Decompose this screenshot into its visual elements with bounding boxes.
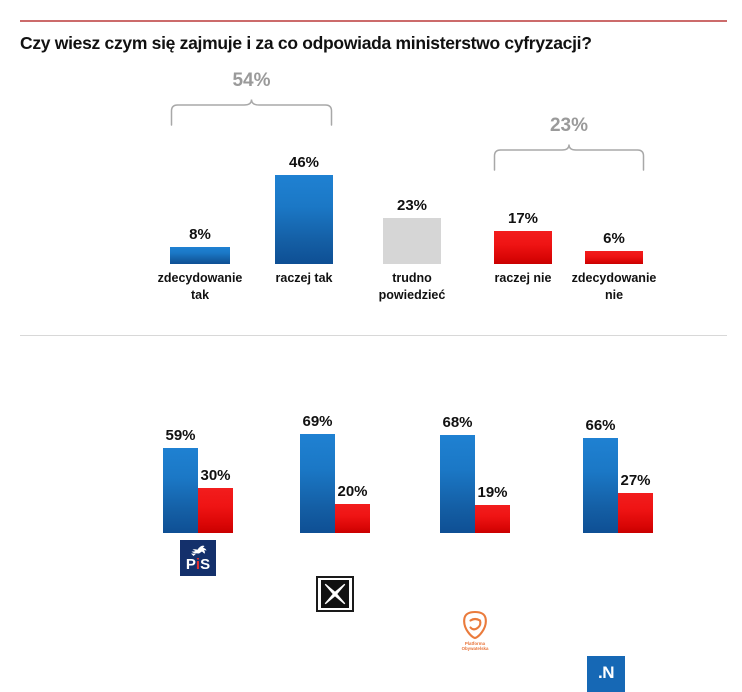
top-rule-divider bbox=[20, 20, 727, 22]
bar-zdecydowanie-tak bbox=[170, 247, 230, 264]
bar-value-raczej-tak: 46% bbox=[268, 154, 340, 171]
pis-logo-p: P bbox=[186, 556, 196, 573]
bar-group-raczej-nie: 17% bbox=[487, 60, 559, 264]
bar-label-zdecydowanie-tak: zdecydowanie tak bbox=[143, 270, 257, 303]
bar-group-zdecydowanie-nie: 6% bbox=[578, 60, 650, 264]
bar-value-raczej-nie: 17% bbox=[487, 210, 559, 227]
party-group-pis: 59% 30% bbox=[163, 400, 233, 533]
pis-logo-s: S bbox=[200, 556, 210, 573]
bar-value-kukiz-yes: 69% bbox=[296, 413, 339, 430]
bar-nowoczesna-yes bbox=[583, 438, 618, 533]
bar-kukiz-no bbox=[335, 504, 370, 533]
bar-po-yes bbox=[440, 435, 475, 533]
bar-label-line1: raczej tak bbox=[248, 270, 360, 287]
po-caption-line2: Obywatelska bbox=[452, 646, 498, 651]
nowoczesna-logo-text: .N bbox=[587, 663, 625, 683]
po-shield-icon bbox=[452, 610, 498, 640]
page-title: Czy wiesz czym się zajmuje i za co odpow… bbox=[20, 33, 727, 54]
overall-results-chart: 54% 23% 8% zdecydowanie tak 46% racz bbox=[0, 60, 742, 330]
bar-value-nowoczesna-no: 27% bbox=[614, 472, 657, 489]
kukiz-x-icon bbox=[321, 580, 349, 608]
bar-group-trudno-powiedziec: 23% bbox=[376, 60, 448, 264]
bar-label-line2: nie bbox=[558, 287, 670, 304]
infographic-root: Czy wiesz czym się zajmuje i za co odpow… bbox=[0, 0, 742, 640]
po-logo-caption: Platforma Obywatelska bbox=[452, 641, 498, 651]
bar-kukiz-yes bbox=[300, 434, 335, 533]
pis-logo: PiS bbox=[180, 540, 216, 576]
bar-raczej-tak bbox=[275, 175, 333, 264]
bar-label-zdecydowanie-nie: zdecydowanie nie bbox=[558, 270, 670, 303]
bar-value-zdecydowanie-nie: 6% bbox=[578, 230, 650, 247]
bar-group-zdecydowanie-tak: 8% bbox=[163, 60, 237, 264]
nowoczesna-logo: .N bbox=[587, 656, 625, 692]
bar-value-pis-no: 30% bbox=[194, 467, 237, 484]
bar-po-no bbox=[475, 505, 510, 533]
party-group-po: 68% 19% bbox=[440, 400, 510, 533]
bar-label-line1: trudno bbox=[356, 270, 468, 287]
section-divider bbox=[20, 335, 727, 336]
party-group-nowoczesna: 66% 27% bbox=[583, 400, 653, 533]
bar-value-po-no: 19% bbox=[471, 484, 514, 501]
bar-value-kukiz-no: 20% bbox=[331, 483, 374, 500]
kukiz-logo-box bbox=[321, 580, 349, 608]
results-by-party-chart: 59% 30% PiS 69% 20% bbox=[0, 400, 742, 600]
bar-label-line2: tak bbox=[143, 287, 257, 304]
bar-nowoczesna-no bbox=[618, 493, 653, 533]
bar-value-zdecydowanie-tak: 8% bbox=[163, 226, 237, 243]
pis-logo-text: PiS bbox=[180, 557, 216, 572]
bar-pis-no bbox=[198, 488, 233, 533]
bar-label-line2: powiedzieć bbox=[356, 287, 468, 304]
bar-label-line1: zdecydowanie bbox=[143, 270, 257, 287]
po-logo: Platforma Obywatelska bbox=[452, 610, 498, 654]
bar-label-raczej-tak: raczej tak bbox=[248, 270, 360, 287]
bar-label-line1: zdecydowanie bbox=[558, 270, 670, 287]
bar-pis-yes bbox=[163, 448, 198, 533]
party-group-kukiz: 69% 20% bbox=[300, 400, 370, 533]
bar-value-nowoczesna-yes: 66% bbox=[579, 417, 622, 434]
bar-label-trudno-powiedziec: trudno powiedzieć bbox=[356, 270, 468, 303]
bar-value-trudno-powiedziec: 23% bbox=[376, 197, 448, 214]
bar-value-pis-yes: 59% bbox=[159, 427, 202, 444]
bar-zdecydowanie-nie bbox=[585, 251, 643, 264]
bar-trudno-powiedziec bbox=[383, 218, 441, 264]
bar-group-raczej-tak: 46% bbox=[268, 60, 340, 264]
kukiz-logo bbox=[316, 576, 354, 612]
bar-value-po-yes: 68% bbox=[436, 414, 479, 431]
bar-raczej-nie bbox=[494, 231, 552, 264]
